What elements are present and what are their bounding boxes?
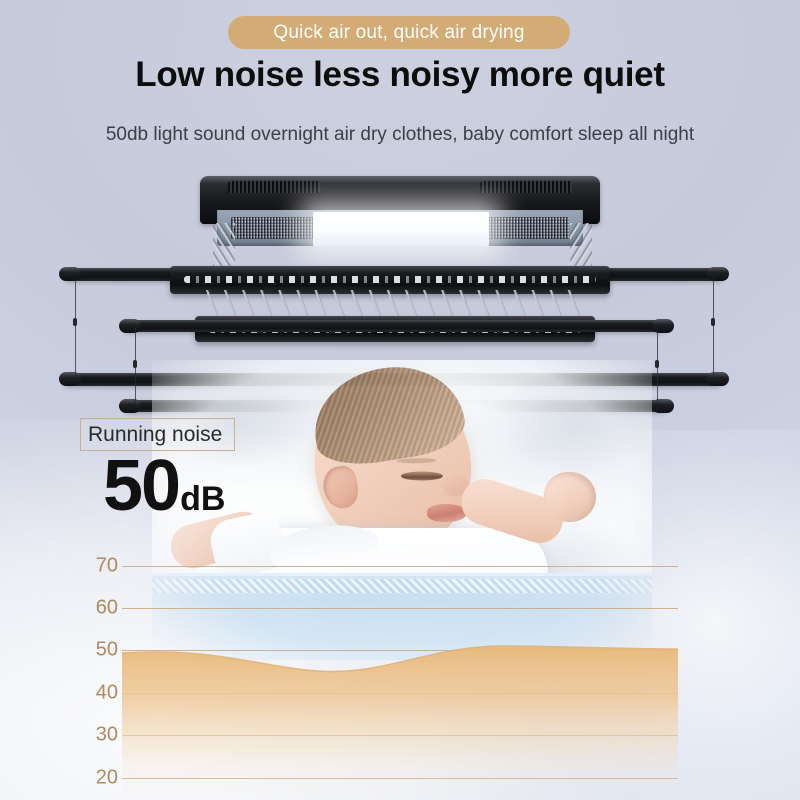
noise-area-path	[122, 646, 678, 800]
air-vent-right-icon	[485, 217, 569, 239]
sheet-fold-2	[492, 368, 652, 478]
noise-value: 50	[103, 450, 179, 522]
baby-photo	[152, 360, 652, 660]
y-tick-20: 20	[78, 767, 118, 790]
drying-rail-outer-second	[123, 320, 668, 332]
vent-grille-top-left-icon	[228, 181, 320, 193]
y-tick-40: 40	[78, 682, 118, 705]
support-wire-left-outer	[75, 278, 76, 376]
noise-area-svg	[122, 640, 678, 800]
promo-badge-label: Quick air out, quick air drying	[273, 22, 524, 44]
vent-grille-top-right-icon	[480, 181, 572, 193]
support-wire-right-outer	[713, 278, 714, 376]
y-tick-30: 30	[78, 724, 118, 747]
support-nub-right-outer	[711, 318, 715, 326]
y-tick-60: 60	[78, 597, 118, 620]
baby-closed-eye	[401, 472, 443, 481]
product-image	[45, 168, 760, 368]
product-marketing-poster: Quick air out, quick air drying Low nois…	[0, 0, 800, 800]
scissor-lift-right	[570, 223, 592, 271]
promo-badge: Quick air out, quick air drying	[228, 16, 570, 49]
baby-blanket	[152, 573, 652, 660]
air-vent-left-icon	[231, 217, 315, 239]
page-subtitle: 50db light sound overnight air dry cloth…	[0, 124, 800, 146]
running-noise-label: Running noise	[88, 423, 222, 447]
rail-cap-outer-top-left	[59, 267, 81, 281]
support-nub-right-inner	[655, 360, 659, 368]
y-tick-70: 70	[78, 555, 118, 578]
baby-right-fist	[544, 472, 596, 522]
rail-holes-top	[184, 276, 596, 283]
rail-cap-fourth-right	[652, 399, 674, 413]
gridline-40	[122, 693, 678, 694]
noise-area-fill	[122, 640, 678, 800]
blanket-weave-trim	[152, 579, 652, 593]
y-tick-50: 50	[78, 639, 118, 662]
noise-unit: dB	[180, 482, 225, 516]
rail-cap-fourth-left	[119, 399, 141, 413]
noise-value-group: 50 dB	[103, 450, 225, 522]
rail-cap-third-left	[59, 372, 81, 386]
rail-cap-second-left	[119, 319, 141, 333]
scissor-lift-left	[213, 223, 235, 271]
support-nub-left-inner	[133, 360, 137, 368]
gridline-30	[122, 735, 678, 736]
page-title: Low noise less noisy more quiet	[0, 55, 800, 95]
gridline-20	[122, 778, 678, 779]
baby-eyebrow	[396, 458, 436, 464]
rail-cap-second-right	[652, 319, 674, 333]
rail-cap-outer-top-right	[707, 267, 729, 281]
rail-cap-third-right	[707, 372, 729, 386]
support-nub-left-outer	[73, 318, 77, 326]
led-light-panel	[313, 212, 489, 246]
baby-ear	[321, 464, 361, 511]
